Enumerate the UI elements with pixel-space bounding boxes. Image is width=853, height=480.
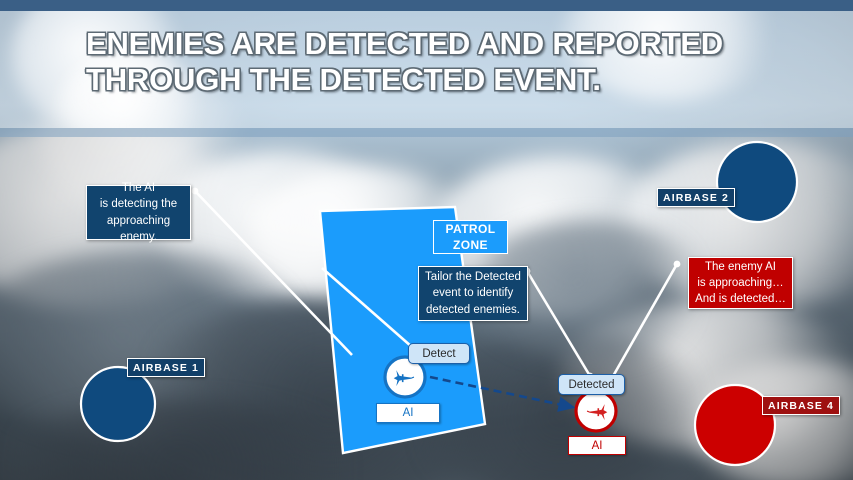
patrol-zone-label[interactable]: PATROL ZONE [433,220,508,254]
callout-enemy-ai[interactable]: The enemy AI is approaching… And is dete… [688,257,793,309]
airbase-1-label[interactable]: AIRBASE 1 [127,358,205,377]
tag-ai-friendly[interactable]: AI [376,403,440,423]
callout-tailor-event[interactable]: Tailor the Detected event to identify de… [418,266,528,321]
tag-detect[interactable]: Detect [408,343,470,364]
airbase-1-circle[interactable] [81,367,155,441]
leader-line-endpoint [674,261,681,268]
airbase-2-label[interactable]: AIRBASE 2 [657,188,735,207]
callout-ai-detecting[interactable]: The AI is detecting the approaching enem… [86,185,191,240]
leader-line-endpoint [192,188,199,195]
jet-icon-red[interactable] [576,391,616,431]
tag-ai-enemy[interactable]: AI [568,436,626,455]
leader-line-tailor-event [527,271,590,376]
tag-detected[interactable]: Detected [558,374,625,395]
airbase-4-label[interactable]: AIRBASE 4 [762,396,840,415]
leader-line-enemy-ai [612,264,677,378]
slide-canvas: ENEMIES ARE DETECTED AND REPORTED THROUG… [0,0,853,480]
airbase-2-circle[interactable] [717,142,797,222]
